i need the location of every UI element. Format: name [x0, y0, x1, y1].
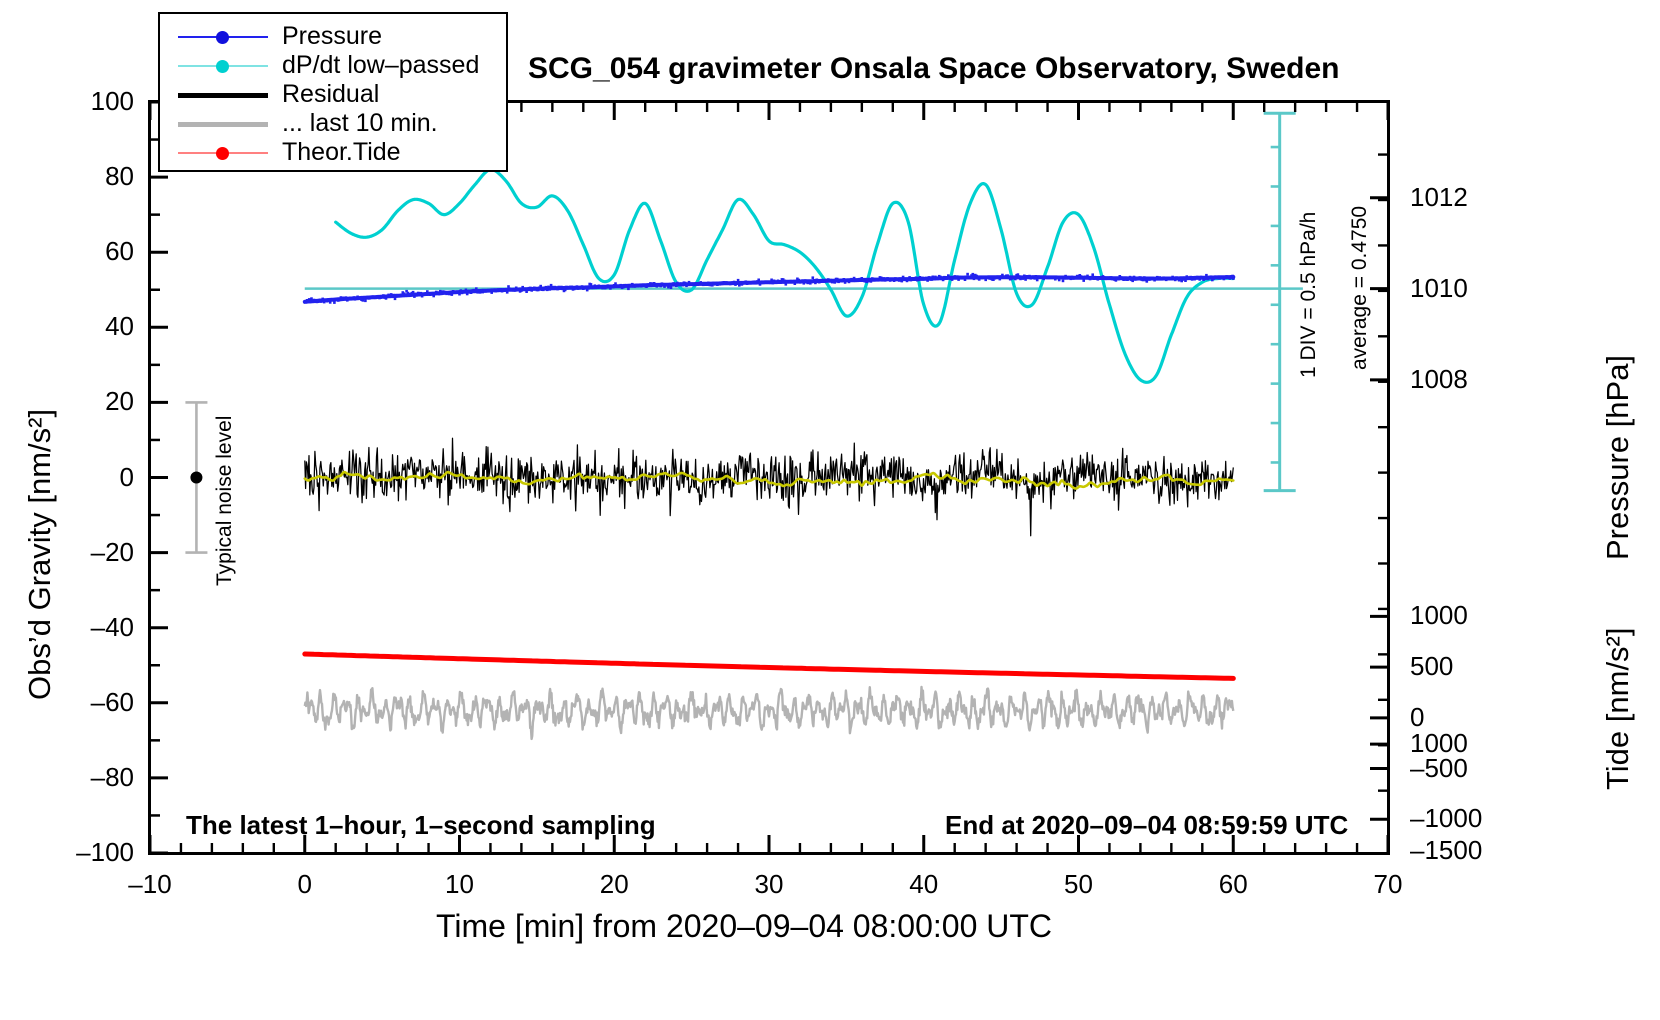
legend-swatch-residual	[178, 85, 268, 105]
plot-frame	[148, 100, 1390, 855]
axis-tick-label: 1000	[1410, 600, 1530, 631]
axis-tick-label: 60	[1188, 869, 1278, 900]
axis-tick-label: 60	[24, 236, 134, 267]
legend-label: dP/dt low–passed	[282, 51, 479, 80]
axis-tick-label: –40	[24, 612, 134, 643]
y-axis-pressure-title: Pressure [hPa]	[1600, 355, 1636, 560]
axis-tick-label: –500	[1410, 753, 1530, 784]
legend-label: Theor.Tide	[282, 138, 401, 167]
page-title: SCG_054 gravimeter Onsala Space Observat…	[528, 52, 1340, 86]
legend-item-last10[interactable]: ... last 10 min.	[160, 109, 506, 138]
axis-tick-label: 100	[24, 86, 134, 117]
axis-tick-label: 50	[1034, 869, 1124, 900]
legend-swatch-tide	[178, 143, 268, 163]
legend-item-tide[interactable]: Theor.Tide	[160, 138, 506, 167]
axis-tick-label: 80	[24, 161, 134, 192]
axis-tick-label: 0	[1410, 702, 1530, 733]
legend-label: Residual	[282, 80, 379, 109]
axis-tick-label: 1010	[1410, 273, 1530, 304]
axis-tick-label: 30	[724, 869, 814, 900]
legend-item-residual[interactable]: Residual	[160, 80, 506, 109]
legend-label: Pressure	[282, 22, 382, 51]
footer-sampling-note: The latest 1–hour, 1–second sampling	[186, 810, 656, 841]
axis-tick-label: 1012	[1410, 182, 1530, 213]
legend-swatch-last10	[178, 114, 268, 134]
axis-tick-label: 500	[1410, 651, 1530, 682]
legend-swatch-dpdt	[178, 56, 268, 76]
legend-item-dpdt[interactable]: dP/dt low–passed	[160, 51, 506, 80]
axis-tick-label: 10	[415, 869, 505, 900]
axis-tick-label: 0	[260, 869, 350, 900]
legend-label: ... last 10 min.	[282, 109, 438, 138]
footer-end-time: End at 2020–09–04 08:59:59 UTC	[945, 810, 1348, 841]
noise-level-annotation: Typical noise level	[213, 416, 237, 586]
axis-tick-label: 0	[24, 462, 134, 493]
div-scale-annotation: 1 DIV = 0.5 hPa/h	[1297, 212, 1321, 378]
axis-tick-label: 40	[24, 311, 134, 342]
legend: Pressure dP/dt low–passed Residual ... l…	[158, 12, 508, 172]
x-axis-title: Time [min] from 2020–09–04 08:00:00 UTC	[436, 908, 1052, 945]
axis-tick-label: –60	[24, 687, 134, 718]
axis-tick-label: –1000	[1410, 803, 1530, 834]
average-annotation: average = 0.4750	[1348, 206, 1372, 370]
legend-item-pressure[interactable]: Pressure	[160, 22, 506, 51]
axis-tick-label: 20	[24, 386, 134, 417]
axis-tick-label: –1500	[1410, 835, 1530, 866]
axis-tick-label: –100	[24, 837, 134, 868]
axis-tick-label: 1008	[1410, 364, 1530, 395]
axis-tick-label: –10	[105, 869, 195, 900]
y-axis-tide-title: Tide [nm/s²]	[1600, 628, 1636, 791]
axis-tick-label: –20	[24, 537, 134, 568]
legend-swatch-pressure	[178, 27, 268, 47]
axis-tick-label: 40	[879, 869, 969, 900]
axis-tick-label: 20	[569, 869, 659, 900]
axis-tick-label: –80	[24, 762, 134, 793]
axis-tick-label: 70	[1343, 869, 1433, 900]
chart-canvas: SCG_054 gravimeter Onsala Space Observat…	[0, 0, 1660, 1020]
